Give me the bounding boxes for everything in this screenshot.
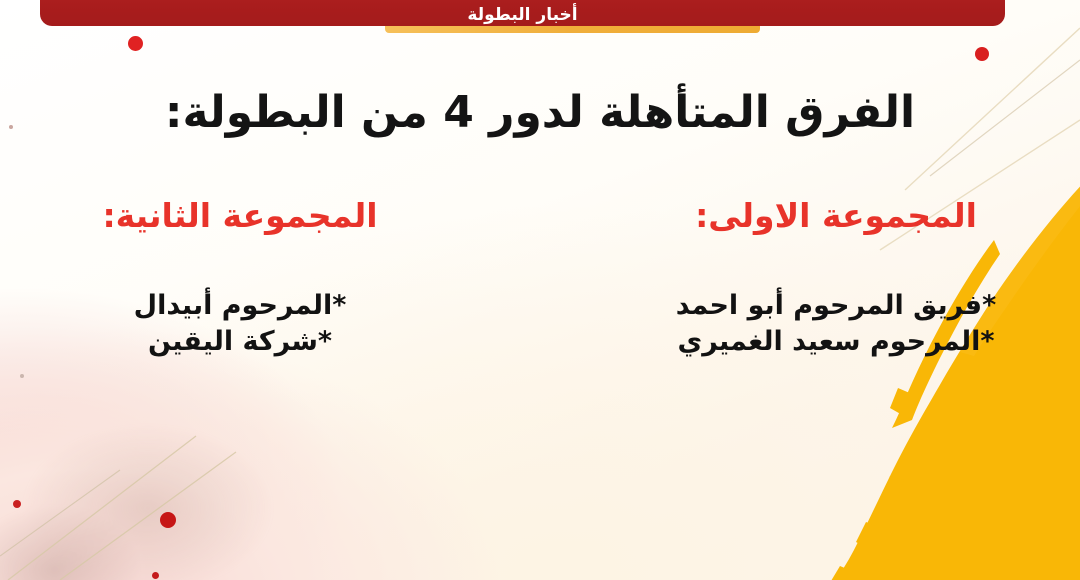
team-item: *المرحوم سعيد الغميري	[610, 324, 1062, 360]
decor-dot	[975, 47, 989, 61]
team-item: *فريق المرحوم أبو احمد	[610, 288, 1062, 324]
decor-dot	[20, 374, 24, 378]
group-one: المجموعة الاولى: *فريق المرحوم أبو احمد …	[610, 196, 1080, 360]
decor-dot	[128, 36, 143, 51]
team-item: *شركة اليقين	[10, 324, 470, 360]
decor-dot	[160, 512, 176, 528]
page-title: الفرق المتأهلة لدور 4 من البطولة:	[0, 87, 1080, 139]
header-banner: أخبار البطولة	[40, 0, 1005, 26]
banner-underline-accent	[385, 26, 760, 33]
group-two-team-list: *المرحوم أبيدال *شركة اليقين	[10, 288, 470, 361]
team-item: *المرحوم أبيدال	[10, 288, 470, 324]
groups-container: المجموعة الاولى: *فريق المرحوم أبو احمد …	[0, 196, 1080, 360]
group-two: المجموعة الثانية: *المرحوم أبيدال *شركة …	[0, 196, 470, 360]
decor-dot	[152, 572, 159, 579]
decor-dot	[13, 500, 21, 508]
group-one-title: المجموعة الاولى:	[610, 196, 1062, 236]
poster-canvas: أخبار البطولة الفرق المتأهلة لدور 4 من ا…	[0, 0, 1080, 580]
group-two-title: المجموعة الثانية:	[10, 196, 470, 236]
group-one-team-list: *فريق المرحوم أبو احمد *المرحوم سعيد الغ…	[610, 288, 1062, 361]
banner-title: أخبار البطولة	[467, 7, 577, 24]
